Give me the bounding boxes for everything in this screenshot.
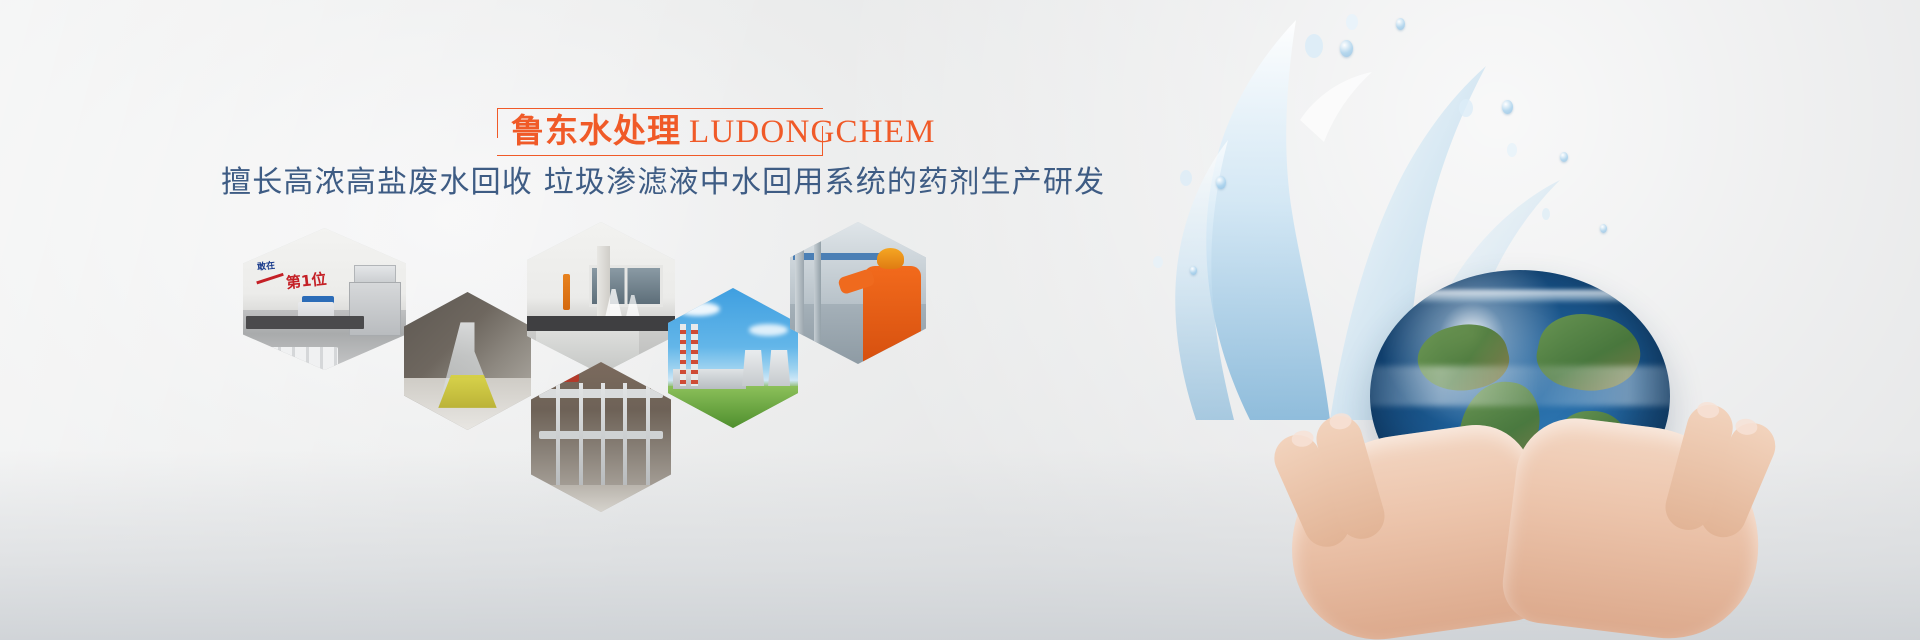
wall-slogan-graphic: 敢在 第1位 — [254, 259, 329, 296]
hexagon-tile-flask-yellow-reagent[interactable] — [404, 292, 531, 430]
water-globe-artwork — [1040, 0, 1920, 640]
hexagon-tile-laboratory-interior[interactable]: 敢在 第1位 — [243, 228, 406, 370]
water-droplet — [1396, 18, 1405, 30]
hard-hat-icon — [877, 248, 904, 269]
water-droplet — [1560, 152, 1568, 162]
water-droplet — [1600, 224, 1607, 233]
photo-industrial-piping — [531, 362, 671, 512]
photo-technician-at-valves — [790, 222, 926, 364]
water-droplet — [1502, 100, 1513, 114]
hexagon-tile-industrial-piping[interactable] — [531, 362, 671, 512]
water-droplet — [1216, 176, 1226, 189]
water-droplet — [1190, 266, 1197, 275]
photo-lab-glassware-bench — [527, 222, 675, 374]
hexagon-photo-cluster: 敢在 第1位 — [0, 0, 1000, 640]
hero-banner: 鲁东水处理LUDONGCHEM 擅长高浓高盐废水回收 垃圾渗滤液中水回用系统的药… — [0, 0, 1920, 640]
photo-laboratory-interior: 敢在 第1位 — [243, 228, 406, 370]
hexagon-tile-technician-at-valves[interactable] — [790, 222, 926, 364]
photo-flask-yellow-reagent — [404, 292, 531, 430]
hexagon-tile-lab-glassware-bench[interactable] — [527, 222, 675, 374]
slogan-arrow-icon — [256, 273, 284, 285]
hands-graphic — [1290, 400, 1760, 640]
hexagon-tile-power-plant-towers[interactable] — [668, 288, 798, 428]
photo-power-plant-towers — [668, 288, 798, 428]
water-droplet — [1340, 40, 1353, 57]
right-hand — [1498, 412, 1771, 640]
